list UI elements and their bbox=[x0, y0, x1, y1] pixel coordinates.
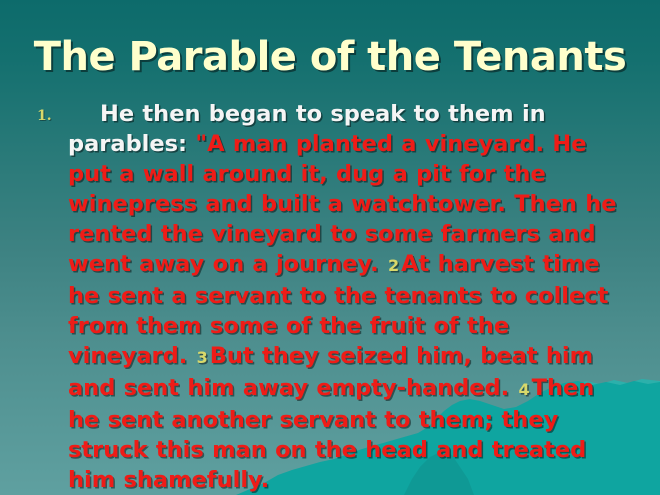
verse-number-2: 2 bbox=[387, 256, 401, 275]
slide-title: The Parable of the Tenants bbox=[0, 34, 660, 80]
presentation-slide: The Parable of the Tenants 1. He then be… bbox=[0, 0, 660, 495]
list-item: 1. He then began to speak to them in par… bbox=[33, 99, 633, 495]
slide-body: 1. He then began to speak to them in par… bbox=[33, 99, 633, 495]
list-marker-number: 1. bbox=[37, 108, 52, 124]
scripture-paragraph: He then began to speak to them in parabl… bbox=[68, 99, 633, 495]
verse-number-4: 4 bbox=[518, 380, 532, 399]
verse-number-3: 3 bbox=[196, 348, 210, 367]
